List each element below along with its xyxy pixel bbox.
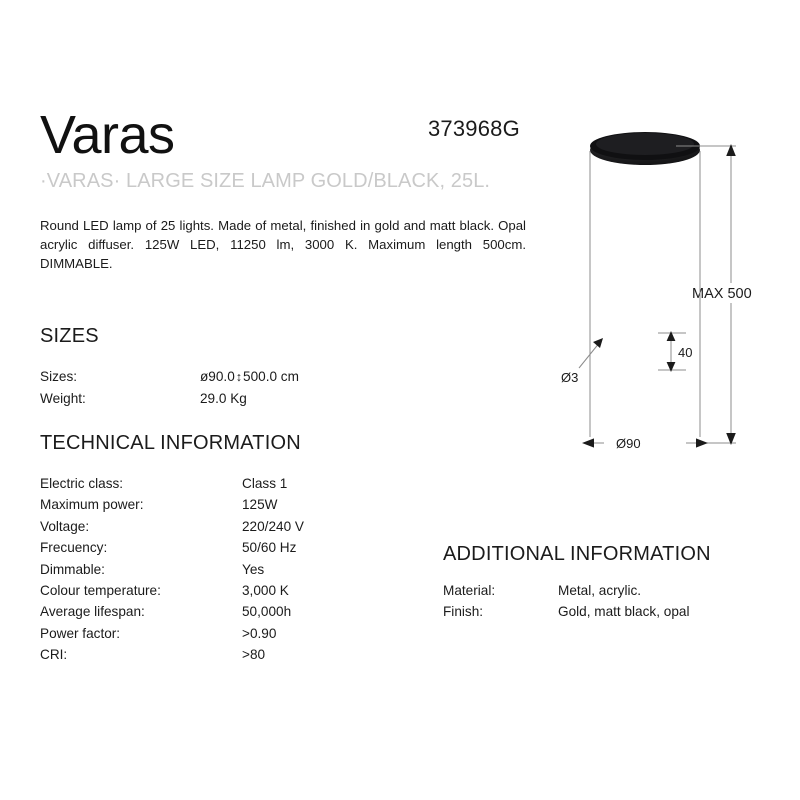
tech-label-voltage: Voltage: bbox=[40, 516, 242, 537]
additional-label-material: Material: bbox=[443, 580, 558, 601]
table-row: Voltage: 220/240 V bbox=[40, 516, 304, 537]
table-row: Colour temperature: 3,000 K bbox=[40, 580, 304, 601]
table-row: Maximum power: 125W bbox=[40, 494, 304, 515]
sizes-table: Sizes: ø90.0↕500.0 cm Weight: 29.0 Kg bbox=[40, 366, 299, 410]
length-value: 500.0 cm bbox=[243, 369, 299, 384]
dimension-label-canopy-diameter: Ø90 bbox=[616, 436, 641, 451]
additional-information-table: Material: Metal, acrylic. Finish: Gold, … bbox=[443, 580, 689, 623]
table-row: Frecuency: 50/60 Hz bbox=[40, 537, 304, 558]
tech-value-colour-temperature: 3,000 K bbox=[242, 580, 289, 601]
table-row: Power factor: >0.90 bbox=[40, 623, 304, 644]
table-row: Finish: Gold, matt black, opal bbox=[443, 601, 689, 622]
tech-value-power-factor: >0.90 bbox=[242, 623, 276, 644]
dimension-label-rod-diameter: Ø3 bbox=[561, 370, 578, 385]
tech-value-dimmable: Yes bbox=[242, 559, 264, 580]
diameter-value: ø90.0 bbox=[200, 369, 235, 384]
technical-information-table: Electric class: Class 1 Maximum power: 1… bbox=[40, 473, 304, 666]
page-title: Varas bbox=[40, 108, 175, 162]
table-row: Average lifespan: 50,000h bbox=[40, 601, 304, 622]
tech-label-frecuency: Frecuency: bbox=[40, 537, 242, 558]
table-row: Material: Metal, acrylic. bbox=[443, 580, 689, 601]
additional-value-finish: Gold, matt black, opal bbox=[558, 601, 689, 622]
tech-value-maximum-power: 125W bbox=[242, 494, 278, 515]
sizes-value-weight: 29.0 Kg bbox=[200, 388, 247, 409]
table-row: Dimmable: Yes bbox=[40, 559, 304, 580]
tech-label-average-lifespan: Average lifespan: bbox=[40, 601, 242, 622]
tech-label-dimmable: Dimmable: bbox=[40, 559, 242, 580]
updown-arrow-icon: ↕ bbox=[235, 367, 243, 388]
sizes-value-size: ø90.0↕500.0 cm bbox=[200, 366, 299, 388]
tech-label-power-factor: Power factor: bbox=[40, 623, 242, 644]
product-description: Round LED lamp of 25 lights. Made of met… bbox=[40, 216, 526, 273]
lamp-illustration bbox=[590, 132, 700, 435]
table-row: CRI: >80 bbox=[40, 644, 304, 665]
product-subtitle: ·VARAS· LARGE SIZE LAMP GOLD/BLACK, 25L. bbox=[40, 170, 490, 193]
arrow-right-icon bbox=[696, 438, 708, 447]
product-technical-drawing: MAX 500 40 Ø3 bbox=[540, 125, 800, 485]
tech-value-cri: >80 bbox=[242, 644, 265, 665]
product-spec-sheet: Varas 373968G ·VARAS· LARGE SIZE LAMP GO… bbox=[0, 0, 800, 800]
technical-information-heading: TECHNICAL INFORMATION bbox=[40, 432, 301, 455]
tech-label-electric-class: Electric class: bbox=[40, 473, 242, 494]
table-row: Electric class: Class 1 bbox=[40, 473, 304, 494]
tech-label-maximum-power: Maximum power: bbox=[40, 494, 242, 515]
arrow-left-icon bbox=[582, 438, 594, 447]
tech-label-colour-temperature: Colour temperature: bbox=[40, 580, 242, 601]
table-row: Sizes: ø90.0↕500.0 cm bbox=[40, 366, 299, 388]
additional-label-finish: Finish: bbox=[443, 601, 558, 622]
sizes-label-weight: Weight: bbox=[40, 388, 200, 409]
tech-value-average-lifespan: 50,000h bbox=[242, 601, 291, 622]
sizes-label-size: Sizes: bbox=[40, 366, 200, 388]
sizes-heading: SIZES bbox=[40, 325, 99, 348]
tech-label-cri: CRI: bbox=[40, 644, 242, 665]
additional-information-heading: ADDITIONAL INFORMATION bbox=[443, 543, 711, 566]
tech-value-electric-class: Class 1 bbox=[242, 473, 287, 494]
product-code: 373968G bbox=[428, 116, 520, 142]
additional-value-material: Metal, acrylic. bbox=[558, 580, 641, 601]
tech-value-frecuency: 50/60 Hz bbox=[242, 537, 296, 558]
table-row: Weight: 29.0 Kg bbox=[40, 388, 299, 409]
tech-value-voltage: 220/240 V bbox=[242, 516, 304, 537]
dimension-label-rod-length: 40 bbox=[678, 345, 692, 360]
dimension-label-max-height: MAX 500 bbox=[692, 286, 752, 302]
